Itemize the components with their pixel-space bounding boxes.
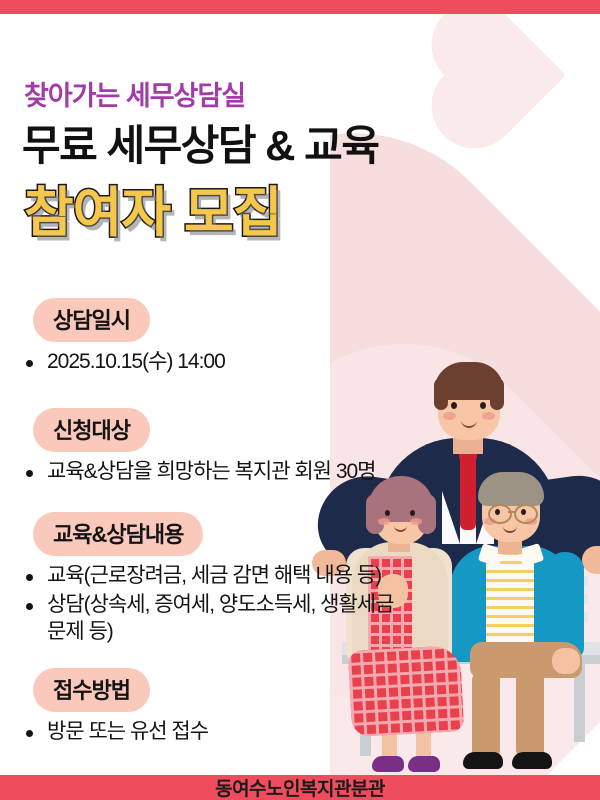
poster-canvas: 찾아가는 세무상담실 무료 세무상담 & 교육 참여자 모집	[0, 0, 600, 800]
background-heart-small-icon	[444, 14, 566, 136]
section-label-consultation-date: 상담일시	[33, 298, 150, 342]
grandpa-shirt-stripes	[486, 552, 534, 656]
bullet-list-consultation-date: 2025.10.15(수) 14:00	[0, 349, 225, 376]
section-consultation-date: 상담일시 2025.10.15(수) 14:00	[0, 298, 225, 376]
list-item: 상담(상속세, 증여세, 양도소득세, 생활세금	[0, 592, 393, 619]
list-item: 2025.10.15(수) 14:00	[0, 349, 225, 376]
poster-title: 무료 세무상담 & 교육	[22, 112, 378, 173]
organization-name: 동여수노인복지관분관	[215, 774, 385, 800]
section-label-eligibility: 신청대상	[33, 408, 150, 452]
grandpa-shoe-right	[512, 752, 552, 769]
man-cheek-right	[482, 412, 495, 420]
grandpa-hair	[478, 472, 544, 506]
grandma-skirt-pattern	[348, 645, 464, 737]
grandpa-leg-right	[516, 672, 544, 758]
bullet-list-program-content: 교육(근로장려금, 세금 감면 해택 내용 등) 상담(상속세, 증여세, 양도…	[0, 563, 393, 646]
man-hair-side-right	[490, 378, 504, 410]
grandpa-eye-right	[521, 509, 526, 515]
section-label-wrap: 교육&상담내용	[33, 512, 393, 556]
grandma-hair-side-right	[418, 494, 436, 534]
section-application-method: 접수방법 방문 또는 유선 접수	[0, 668, 208, 746]
man-cheek-left	[443, 412, 456, 420]
section-label-wrap: 신청대상	[33, 408, 376, 452]
section-program-content: 교육&상담내용 교육(근로장려금, 세금 감면 해택 내용 등) 상담(상속세,…	[0, 512, 393, 646]
footer-bar: 동여수노인복지관분관	[0, 775, 600, 800]
grandpa-eye-left	[495, 509, 500, 515]
man-necktie	[460, 452, 476, 530]
poster-kicker: 찾아가는 세무상담실	[24, 74, 245, 113]
grandpa-shoe-left	[463, 752, 503, 769]
grandpa-glasses-left-lens	[488, 504, 512, 524]
grandma-eye-right	[410, 510, 415, 516]
bullet-list-application-method: 방문 또는 유선 접수	[0, 719, 208, 746]
bullet-list-eligibility: 교육&상담을 희망하는 복지관 회원 30명	[0, 459, 376, 486]
section-label-program-content: 교육&상담내용	[33, 512, 203, 556]
grandpa-right-hand	[552, 648, 580, 674]
grandma-shoe-right	[408, 756, 440, 772]
section-eligibility: 신청대상 교육&상담을 희망하는 복지관 회원 30명	[0, 408, 376, 486]
poster-title-accent: 참여자 모집	[24, 168, 281, 247]
grandma-cheek-right	[410, 518, 422, 525]
top-accent-bar	[0, 0, 600, 14]
man-right-hand	[582, 546, 600, 574]
man-eye-left	[451, 402, 457, 409]
section-label-application-method: 접수방법	[33, 668, 150, 712]
list-item: 교육(근로장려금, 세금 감면 해택 내용 등)	[0, 563, 393, 590]
section-label-wrap: 접수방법	[33, 668, 208, 712]
man-hair-side-left	[434, 378, 448, 410]
grandpa-glasses-bridge	[508, 511, 515, 513]
grandpa-glasses-right-lens	[514, 504, 538, 524]
section-label-wrap: 상담일시	[33, 298, 225, 342]
grandma-shoe-left	[372, 756, 404, 772]
man-eye-right	[480, 402, 486, 409]
list-item: 방문 또는 유선 접수	[0, 719, 208, 746]
list-item-continuation: 문제 등)	[0, 619, 393, 646]
list-item: 교육&상담을 희망하는 복지관 회원 30명	[0, 459, 376, 486]
grandpa-leg-left	[472, 672, 500, 758]
